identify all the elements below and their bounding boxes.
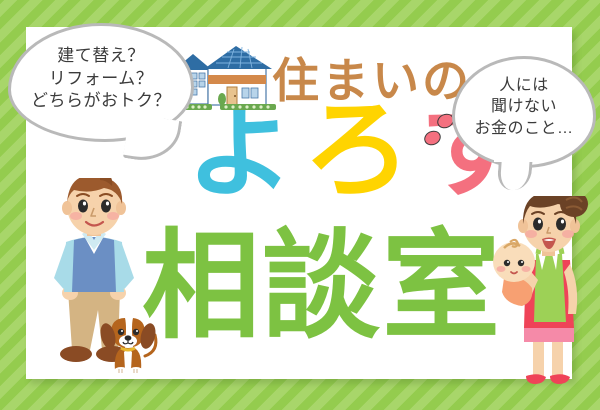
- bubble-left-tail-cover: [112, 108, 162, 130]
- bubble-left-line-2: リフォーム？: [11, 68, 191, 91]
- dog-character-illustration: [95, 316, 167, 383]
- bubble-left-line-1: 建て替え？: [11, 45, 191, 68]
- headline-char-ro: ろ: [303, 96, 420, 204]
- bubble-right-line-1: 人には: [455, 75, 593, 96]
- bubble-right-tail-cover: [494, 144, 534, 162]
- banner-root: 住まいの よろす 相談室: [0, 0, 600, 410]
- bubble-right-line-3: お金のこと…: [455, 118, 593, 139]
- bubble-right-line-2: 聞けない: [455, 96, 593, 117]
- headline-subtitle: 相談室: [142, 228, 502, 346]
- mother-with-baby-illustration: [486, 196, 594, 399]
- bubble-left-line-3: どちらがおトク？: [11, 90, 191, 113]
